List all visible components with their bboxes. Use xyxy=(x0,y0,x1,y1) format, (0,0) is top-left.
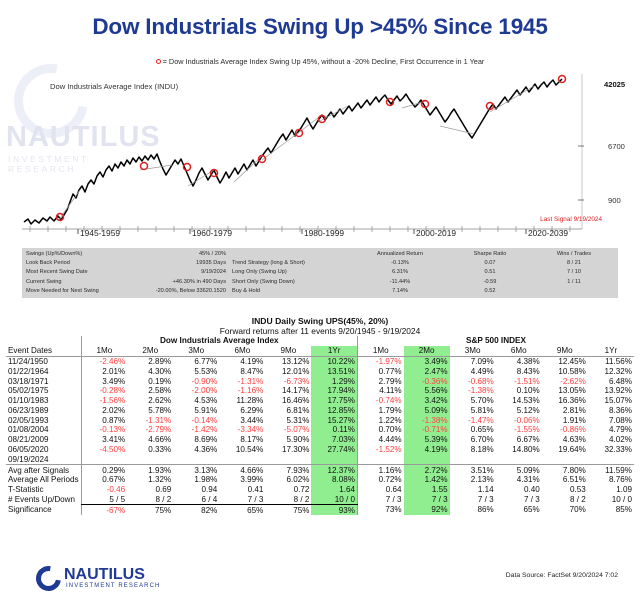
indu-return-1Yr: 1.29% xyxy=(311,376,357,386)
annualized-return: -11.44% xyxy=(352,278,448,287)
spx-return-1Mo: 4.44% xyxy=(357,435,403,445)
spx-return-6Mo: 0.10% xyxy=(496,386,542,396)
table-row: 09/19/2024 xyxy=(6,454,634,464)
spx-return-9Mo: 1.91% xyxy=(542,415,588,425)
price-chart xyxy=(22,74,602,234)
strategy-label: Short Only (Swing Down) xyxy=(232,278,352,287)
x-label-2000-2019: 2000-2019 xyxy=(416,228,456,238)
summary-spx-9Mo: 70% xyxy=(542,505,588,515)
spx-return-2Mo xyxy=(404,454,450,464)
event-date: 09/19/2024 xyxy=(6,454,81,464)
y-axis-top-value: 42025 xyxy=(604,80,625,89)
indu-return-2Mo: 0.19% xyxy=(127,376,173,386)
indu-return-1Yr: 13.51% xyxy=(311,366,357,376)
column-header-indu-6Mo: 6Mo xyxy=(219,346,265,356)
summary-indu-2Mo: 1.93% xyxy=(127,465,173,475)
last-signal-annotation: Last Signal 9/19/2024 xyxy=(540,216,602,223)
spx-return-1Mo: 2.79% xyxy=(357,376,403,386)
wins-trades: 7 / 10 xyxy=(532,268,616,277)
summary-spx-1Mo: 7 / 3 xyxy=(357,495,403,505)
group-header-indu: Dow Industrials Average Index xyxy=(81,336,357,346)
legend-note-text: = Dow Industrials Average Index Swing Up… xyxy=(163,57,485,66)
spx-return-2Mo: -0.71% xyxy=(404,425,450,435)
table-row: 01/10/1983-1.56%2.62%4.53%11.28%16.46%17… xyxy=(6,396,634,406)
spx-return-9Mo xyxy=(542,454,588,464)
summary-spx-9Mo: 8 / 2 xyxy=(542,495,588,505)
spx-return-6Mo: -1.51% xyxy=(496,376,542,386)
summary-spx-6Mo: 65% xyxy=(496,505,542,515)
summary-indu-3Mo: 82% xyxy=(173,505,219,515)
indu-return-9Mo: 13.12% xyxy=(265,356,311,366)
indu-return-6Mo: 6.29% xyxy=(219,405,265,415)
indu-return-3Mo: 4.36% xyxy=(173,445,219,455)
column-header-indu-9Mo: 9Mo xyxy=(265,346,311,356)
spx-return-1Mo: 1.22% xyxy=(357,415,403,425)
table-row: 01/08/2004-0.13%-2.79%-1.42%-3.34%-5.07%… xyxy=(6,425,634,435)
spx-return-3Mo: 4.49% xyxy=(450,366,496,376)
summary-indu-2Mo: 75% xyxy=(127,505,173,515)
indu-return-9Mo: -6.73% xyxy=(265,376,311,386)
page-title: Dow Industrials Swing Up >45% Since 1945 xyxy=(0,14,640,40)
sharpe-ratio: 0.51 xyxy=(448,268,532,277)
spx-return-1Yr: 4.79% xyxy=(588,425,634,435)
stats-left-column: Swings (Up%/Down%) 45% / 20% Look Back P… xyxy=(22,248,230,298)
stats-header-wins-trades: Wins / Trades xyxy=(532,250,616,259)
nautilus-logo-icon xyxy=(31,561,66,596)
spx-return-1Mo: -1.97% xyxy=(357,356,403,366)
x-label-1980-1999: 1980-1999 xyxy=(304,228,344,238)
stats-right-header-blank xyxy=(232,250,352,259)
table-row: 05/02/1975-0.28%2.58%-2.00%-1.16%14.17%1… xyxy=(6,386,634,396)
stat-key: Current Swing xyxy=(26,278,173,287)
spx-return-1Mo: -1.52% xyxy=(357,445,403,455)
summary-indu-9Mo: 8 / 2 xyxy=(265,495,311,505)
column-header-indu-3Mo: 3Mo xyxy=(173,346,219,356)
indu-return-9Mo: 12.01% xyxy=(265,366,311,376)
indu-return-6Mo: 4.19% xyxy=(219,356,265,366)
spx-return-1Yr: 15.07% xyxy=(588,396,634,406)
spx-return-1Yr: 6.48% xyxy=(588,376,634,386)
summary-indu-1Yr: 8.08% xyxy=(311,475,357,485)
indu-return-2Mo: -1.31% xyxy=(127,415,173,425)
stat-row-lookback: Look Back Period 19935 Days xyxy=(26,259,226,268)
indu-return-9Mo: 14.17% xyxy=(265,386,311,396)
summary-indu-6Mo: 4.66% xyxy=(219,465,265,475)
spx-return-2Mo: -1.38% xyxy=(404,415,450,425)
y-axis-low-value: 900 xyxy=(608,196,621,205)
indu-return-6Mo xyxy=(219,454,265,464)
column-header-event-dates: Event Dates xyxy=(6,346,81,356)
indu-return-6Mo: -3.34% xyxy=(219,425,265,435)
spx-return-6Mo: 6.67% xyxy=(496,435,542,445)
strategy-label: Trend Strategy (long & Short) xyxy=(232,259,352,268)
spx-return-2Mo: 3.49% xyxy=(404,356,450,366)
indu-return-1Mo: 3.41% xyxy=(81,435,127,445)
summary-row: Significance-67%75%82%65%75%93%73%92%86%… xyxy=(6,505,634,515)
summary-indu-6Mo: 7 / 3 xyxy=(219,495,265,505)
stat-row-move-needed: Move Needed for Next Swing -20.00%, Belo… xyxy=(26,287,226,296)
event-date: 08/21/2009 xyxy=(6,435,81,445)
spx-return-9Mo: 16.36% xyxy=(542,396,588,406)
summary-row: T-Statistic-0.460.690.940.410.721.640.64… xyxy=(6,485,634,495)
summary-indu-1Mo: 0.67% xyxy=(81,475,127,485)
indu-return-6Mo: 10.54% xyxy=(219,445,265,455)
indu-return-2Mo: 5.78% xyxy=(127,405,173,415)
indu-return-3Mo: 8.69% xyxy=(173,435,219,445)
summary-indu-3Mo: 3.13% xyxy=(173,465,219,475)
indu-return-2Mo: 0.33% xyxy=(127,445,173,455)
indu-return-1Yr: 17.75% xyxy=(311,396,357,406)
indu-return-9Mo: -5.07% xyxy=(265,425,311,435)
slide-root: Dow Industrials Swing Up >45% Since 1945… xyxy=(0,0,640,597)
table-row: 01/22/19642.01%4.30%5.53%8.47%12.01%13.5… xyxy=(6,366,634,376)
indu-return-3Mo: -0.14% xyxy=(173,415,219,425)
stat-value: 19935 Days xyxy=(196,259,226,268)
summary-indu-9Mo: 0.72 xyxy=(265,485,311,495)
annualized-return: 6.31% xyxy=(352,268,448,277)
summary-spx-2Mo: 2.72% xyxy=(404,465,450,475)
swing-marker-icon xyxy=(156,59,161,64)
column-header-indu-1Mo: 1Mo xyxy=(81,346,127,356)
strategy-stats-panel: Swings (Up%/Down%) 45% / 20% Look Back P… xyxy=(22,248,618,298)
summary-spx-6Mo: 4.31% xyxy=(496,475,542,485)
event-date: 01/08/2004 xyxy=(6,425,81,435)
indu-return-1Yr: 12.85% xyxy=(311,405,357,415)
spx-return-3Mo: 7.09% xyxy=(450,356,496,366)
sharpe-ratio: 0.07 xyxy=(448,259,532,268)
annualized-return: -0.13% xyxy=(352,259,448,268)
spx-return-6Mo: -0.06% xyxy=(496,415,542,425)
chart-price-line xyxy=(24,79,562,224)
summary-indu-1Yr: 12.37% xyxy=(311,465,357,475)
column-header-indu-2Mo: 2Mo xyxy=(127,346,173,356)
summary-spx-1Yr: 1.09 xyxy=(588,485,634,495)
summary-spx-1Mo: 0.64 xyxy=(357,485,403,495)
table-title: INDU Daily Swing UPS(45%, 20%) xyxy=(0,316,640,326)
summary-indu-2Mo: 1.32% xyxy=(127,475,173,485)
summary-indu-6Mo: 3.99% xyxy=(219,475,265,485)
spx-return-3Mo: 8.18% xyxy=(450,445,496,455)
event-date: 01/22/1964 xyxy=(6,366,81,376)
group-header-spx: S&P 500 INDEX xyxy=(357,336,634,346)
indu-return-1Yr: 17.94% xyxy=(311,386,357,396)
summary-spx-3Mo: 3.51% xyxy=(450,465,496,475)
summary-spx-1Mo: 0.72% xyxy=(357,475,403,485)
indu-return-1Mo: -0.28% xyxy=(81,386,127,396)
summary-label: Average All Periods xyxy=(6,475,81,485)
stats-header-sharpe-ratio: Sharpe Ratio xyxy=(448,250,532,259)
spx-return-2Mo: 5.09% xyxy=(404,405,450,415)
spx-return-6Mo: 5.12% xyxy=(496,405,542,415)
indu-return-3Mo: 4.53% xyxy=(173,396,219,406)
summary-label: # Events Up/Down xyxy=(6,495,81,505)
stats-row-buy-hold: Buy & Hold 7.14% 0.52 xyxy=(232,287,616,296)
indu-return-1Mo: 2.01% xyxy=(81,366,127,376)
indu-return-2Mo xyxy=(127,454,173,464)
spx-return-1Mo: 1.79% xyxy=(357,405,403,415)
spx-return-6Mo: 4.38% xyxy=(496,356,542,366)
summary-spx-1Yr: 11.59% xyxy=(588,465,634,475)
spx-return-9Mo: 19.64% xyxy=(542,445,588,455)
indu-return-6Mo: -1.31% xyxy=(219,376,265,386)
stat-value: 9/19/2024 xyxy=(201,268,226,277)
summary-spx-3Mo: 1.14 xyxy=(450,485,496,495)
table-row: 02/05/19930.87%-1.31%-0.14%3.44%5.31%15.… xyxy=(6,415,634,425)
spx-return-3Mo: 5.81% xyxy=(450,405,496,415)
summary-spx-1Mo: 1.16% xyxy=(357,465,403,475)
indu-return-1Yr xyxy=(311,454,357,464)
y-axis-mid-value: 6700 xyxy=(608,142,625,151)
indu-return-9Mo: 5.31% xyxy=(265,415,311,425)
stats-row-short-only: Short Only (Swing Down) -11.44% -0.59 1 … xyxy=(232,278,616,287)
summary-indu-3Mo: 1.98% xyxy=(173,475,219,485)
summary-indu-3Mo: 0.94 xyxy=(173,485,219,495)
spx-return-1Yr: 13.92% xyxy=(588,386,634,396)
x-label-1960-1979: 1960-1979 xyxy=(192,228,232,238)
summary-spx-6Mo: 7 / 3 xyxy=(496,495,542,505)
summary-spx-6Mo: 0.40 xyxy=(496,485,542,495)
stat-row-recent-swing-date: Most Recent Swing Date 9/19/2024 xyxy=(26,268,226,277)
spx-return-1Yr xyxy=(588,454,634,464)
spx-return-2Mo: 5.56% xyxy=(404,386,450,396)
indu-return-2Mo: -2.79% xyxy=(127,425,173,435)
table-subtitle: Forward returns after 11 events 9/20/194… xyxy=(0,326,640,336)
summary-indu-1Yr: 10 / 0 xyxy=(311,495,357,505)
stat-value: 45% / 20% xyxy=(199,250,226,259)
indu-return-1Yr: 0.11% xyxy=(311,425,357,435)
event-date: 02/05/1993 xyxy=(6,415,81,425)
summary-indu-1Mo: -67% xyxy=(81,505,127,515)
summary-spx-2Mo: 7 / 3 xyxy=(404,495,450,505)
spx-return-3Mo: 0.65% xyxy=(450,425,496,435)
summary-spx-3Mo: 7 / 3 xyxy=(450,495,496,505)
spx-return-9Mo: 4.63% xyxy=(542,435,588,445)
forward-returns-table: Dow Industrials Average IndexS&P 500 IND… xyxy=(6,336,634,515)
chart-swing-lines xyxy=(58,86,534,221)
indu-return-3Mo: -1.42% xyxy=(173,425,219,435)
spx-return-1Mo: 0.70% xyxy=(357,425,403,435)
indu-return-2Mo: 4.30% xyxy=(127,366,173,376)
spx-return-9Mo: 10.58% xyxy=(542,366,588,376)
indu-return-9Mo: 6.81% xyxy=(265,405,311,415)
stat-key: Swings (Up%/Down%) xyxy=(26,250,199,259)
indu-return-9Mo: 16.46% xyxy=(265,396,311,406)
summary-indu-6Mo: 0.41 xyxy=(219,485,265,495)
indu-return-1Mo: -1.56% xyxy=(81,396,127,406)
indu-return-1Yr: 7.03% xyxy=(311,435,357,445)
stat-row-current-swing: Current Swing +46.30% in 490 Days xyxy=(26,278,226,287)
stats-row-trend-strategy: Trend Strategy (long & Short) -0.13% 0.0… xyxy=(232,259,616,268)
spx-return-1Yr: 8.36% xyxy=(588,405,634,415)
summary-spx-2Mo: 1.42% xyxy=(404,475,450,485)
indu-return-1Mo: -2.46% xyxy=(81,356,127,366)
stat-value: -20.00%, Below 33620.1520 xyxy=(156,287,226,296)
event-date: 11/24/1950 xyxy=(6,356,81,366)
spx-return-3Mo: 5.70% xyxy=(450,396,496,406)
table-row: 06/23/19892.02%5.78%5.91%6.29%6.81%12.85… xyxy=(6,405,634,415)
table-row: 11/24/1950-2.46%2.89%6.77%4.19%13.12%10.… xyxy=(6,356,634,366)
indu-return-2Mo: 4.66% xyxy=(127,435,173,445)
summary-label: Avg after Signals xyxy=(6,465,81,475)
spx-return-1Yr: 7.08% xyxy=(588,415,634,425)
summary-indu-2Mo: 0.69 xyxy=(127,485,173,495)
spx-return-6Mo: 8.43% xyxy=(496,366,542,376)
x-label-1945-1959: 1945-1959 xyxy=(80,228,120,238)
chart-legend-note: = Dow Industrials Average Index Swing Up… xyxy=(0,57,640,66)
x-label-2020-2039: 2020-2039 xyxy=(528,228,568,238)
indu-return-6Mo: 11.28% xyxy=(219,396,265,406)
strategy-label: Buy & Hold xyxy=(232,287,352,296)
indu-return-2Mo: 2.58% xyxy=(127,386,173,396)
indu-return-9Mo xyxy=(265,454,311,464)
spx-return-3Mo: 6.70% xyxy=(450,435,496,445)
summary-spx-1Yr: 10 / 0 xyxy=(588,495,634,505)
indu-return-1Yr: 15.27% xyxy=(311,415,357,425)
table-column-header: Event Dates1Mo2Mo3Mo6Mo9Mo1Yr1Mo2Mo3Mo6M… xyxy=(6,346,634,356)
spx-return-2Mo: 2.47% xyxy=(404,366,450,376)
spx-return-6Mo: 14.80% xyxy=(496,445,542,455)
table-group-header: Dow Industrials Average IndexS&P 500 IND… xyxy=(6,336,634,346)
indu-return-2Mo: 2.62% xyxy=(127,396,173,406)
chart-x-labels: 1945-1959 1960-1979 1980-1999 2000-2019 … xyxy=(22,228,602,242)
spx-return-6Mo: 14.53% xyxy=(496,396,542,406)
summary-row: Average All Periods0.67%1.32%1.98%3.99%6… xyxy=(6,475,634,485)
data-source-note: Data Source: FactSet 9/20/2024 7:02 xyxy=(506,572,618,579)
footer-brand-name: NAUTILUS xyxy=(64,567,145,583)
event-date: 06/23/1989 xyxy=(6,405,81,415)
table-row: 06/05/2020-4.50%0.33%4.36%10.54%17.30%27… xyxy=(6,445,634,455)
column-header-spx-3Mo: 3Mo xyxy=(450,346,496,356)
indu-return-3Mo xyxy=(173,454,219,464)
column-header-spx-1Mo: 1Mo xyxy=(357,346,403,356)
summary-spx-1Yr: 85% xyxy=(588,505,634,515)
footer-logo: NAUTILUS INVESTMENT RESEARCH xyxy=(36,565,336,593)
summary-row: Avg after Signals0.29%1.93%3.13%4.66%7.9… xyxy=(6,465,634,475)
column-header-indu-1Yr: 1Yr xyxy=(311,346,357,356)
column-header-spx-6Mo: 6Mo xyxy=(496,346,542,356)
column-header-spx-9Mo: 9Mo xyxy=(542,346,588,356)
spx-return-1Yr: 12.32% xyxy=(588,366,634,376)
stats-header-annualized-return: Annualized Return xyxy=(352,250,448,259)
strategy-label: Long Only (Swing Up) xyxy=(232,268,352,277)
indu-return-9Mo: 5.90% xyxy=(265,435,311,445)
spx-return-2Mo: 4.19% xyxy=(404,445,450,455)
sharpe-ratio: -0.59 xyxy=(448,278,532,287)
summary-spx-9Mo: 0.53 xyxy=(542,485,588,495)
spx-return-6Mo xyxy=(496,454,542,464)
indu-return-1Mo: 3.49% xyxy=(81,376,127,386)
group-header-spacer xyxy=(6,336,81,346)
sharpe-ratio: 0.52 xyxy=(448,287,532,296)
summary-spx-9Mo: 6.51% xyxy=(542,475,588,485)
spx-return-1Yr: 11.56% xyxy=(588,356,634,366)
indu-return-1Mo: 2.02% xyxy=(81,405,127,415)
spx-return-9Mo: 12.45% xyxy=(542,356,588,366)
indu-return-6Mo: 3.44% xyxy=(219,415,265,425)
spx-return-1Mo: 0.77% xyxy=(357,366,403,376)
table-row: 08/21/20093.41%4.66%8.69%8.17%5.90%7.03%… xyxy=(6,435,634,445)
spx-return-1Yr: 4.02% xyxy=(588,435,634,445)
stats-right-header: Annualized Return Sharpe Ratio Wins / Tr… xyxy=(232,250,616,259)
annualized-return: 7.14% xyxy=(352,287,448,296)
stat-row-swings: Swings (Up%/Down%) 45% / 20% xyxy=(26,250,226,259)
price-chart-svg xyxy=(22,74,602,234)
spx-return-1Mo: -0.74% xyxy=(357,396,403,406)
summary-label: Significance xyxy=(6,505,81,515)
event-date: 01/10/1983 xyxy=(6,396,81,406)
summary-indu-1Mo: 0.29% xyxy=(81,465,127,475)
event-date: 05/02/1975 xyxy=(6,386,81,396)
indu-return-1Yr: 10.22% xyxy=(311,356,357,366)
stat-key: Look Back Period xyxy=(26,259,196,268)
spx-return-9Mo: 13.05% xyxy=(542,386,588,396)
indu-return-1Mo: -4.50% xyxy=(81,445,127,455)
spx-return-2Mo: -0.36% xyxy=(404,376,450,386)
column-header-spx-2Mo: 2Mo xyxy=(404,346,450,356)
stat-key: Move Needed for Next Swing xyxy=(26,287,156,296)
spx-return-3Mo xyxy=(450,454,496,464)
event-date: 06/05/2020 xyxy=(6,445,81,455)
stat-key: Most Recent Swing Date xyxy=(26,268,201,277)
summary-indu-9Mo: 6.02% xyxy=(265,475,311,485)
wins-trades: 8 / 21 xyxy=(532,259,616,268)
summary-spx-3Mo: 2.13% xyxy=(450,475,496,485)
column-header-spx-1Yr: 1Yr xyxy=(588,346,634,356)
summary-indu-1Mo: -0.46 xyxy=(81,485,127,495)
summary-spx-3Mo: 86% xyxy=(450,505,496,515)
indu-return-1Mo: -0.13% xyxy=(81,425,127,435)
summary-indu-1Yr: 93% xyxy=(311,505,357,515)
indu-return-6Mo: 8.17% xyxy=(219,435,265,445)
summary-label: T-Statistic xyxy=(6,485,81,495)
spx-return-9Mo: -0.86% xyxy=(542,425,588,435)
indu-return-3Mo: 5.91% xyxy=(173,405,219,415)
summary-indu-6Mo: 65% xyxy=(219,505,265,515)
indu-return-3Mo: 6.77% xyxy=(173,356,219,366)
stat-value: +46.30% in 490 Days xyxy=(173,278,226,287)
spx-return-2Mo: 5.39% xyxy=(404,435,450,445)
summary-spx-2Mo: 1.55 xyxy=(404,485,450,495)
event-date: 03/18/1971 xyxy=(6,376,81,386)
indu-return-3Mo: 5.53% xyxy=(173,366,219,376)
summary-spx-1Yr: 8.76% xyxy=(588,475,634,485)
stats-row-long-only: Long Only (Swing Up) 6.31% 0.51 7 / 10 xyxy=(232,268,616,277)
indu-return-1Mo: 0.87% xyxy=(81,415,127,425)
summary-indu-1Mo: 5 / 5 xyxy=(81,495,127,505)
summary-indu-3Mo: 6 / 4 xyxy=(173,495,219,505)
summary-spx-9Mo: 7.80% xyxy=(542,465,588,475)
summary-spx-6Mo: 5.09% xyxy=(496,465,542,475)
spx-return-3Mo: -0.68% xyxy=(450,376,496,386)
indu-return-9Mo: 17.30% xyxy=(265,445,311,455)
summary-spx-2Mo: 92% xyxy=(404,505,450,515)
indu-return-6Mo: -1.16% xyxy=(219,386,265,396)
spx-return-3Mo: -1.38% xyxy=(450,386,496,396)
footer-brand-subtitle: INVESTMENT RESEARCH xyxy=(66,583,160,589)
summary-indu-9Mo: 7.93% xyxy=(265,465,311,475)
indu-return-3Mo: -0.90% xyxy=(173,376,219,386)
indu-return-1Mo xyxy=(81,454,127,464)
indu-return-1Yr: 27.74% xyxy=(311,445,357,455)
spx-return-3Mo: -1.47% xyxy=(450,415,496,425)
spx-return-6Mo: -1.55% xyxy=(496,425,542,435)
summary-indu-9Mo: 75% xyxy=(265,505,311,515)
spx-return-9Mo: 2.81% xyxy=(542,405,588,415)
spx-return-1Yr: 32.33% xyxy=(588,445,634,455)
table-row: 03/18/19713.49%0.19%-0.90%-1.31%-6.73%1.… xyxy=(6,376,634,386)
indu-return-3Mo: -2.00% xyxy=(173,386,219,396)
spx-return-1Mo: 4.11% xyxy=(357,386,403,396)
